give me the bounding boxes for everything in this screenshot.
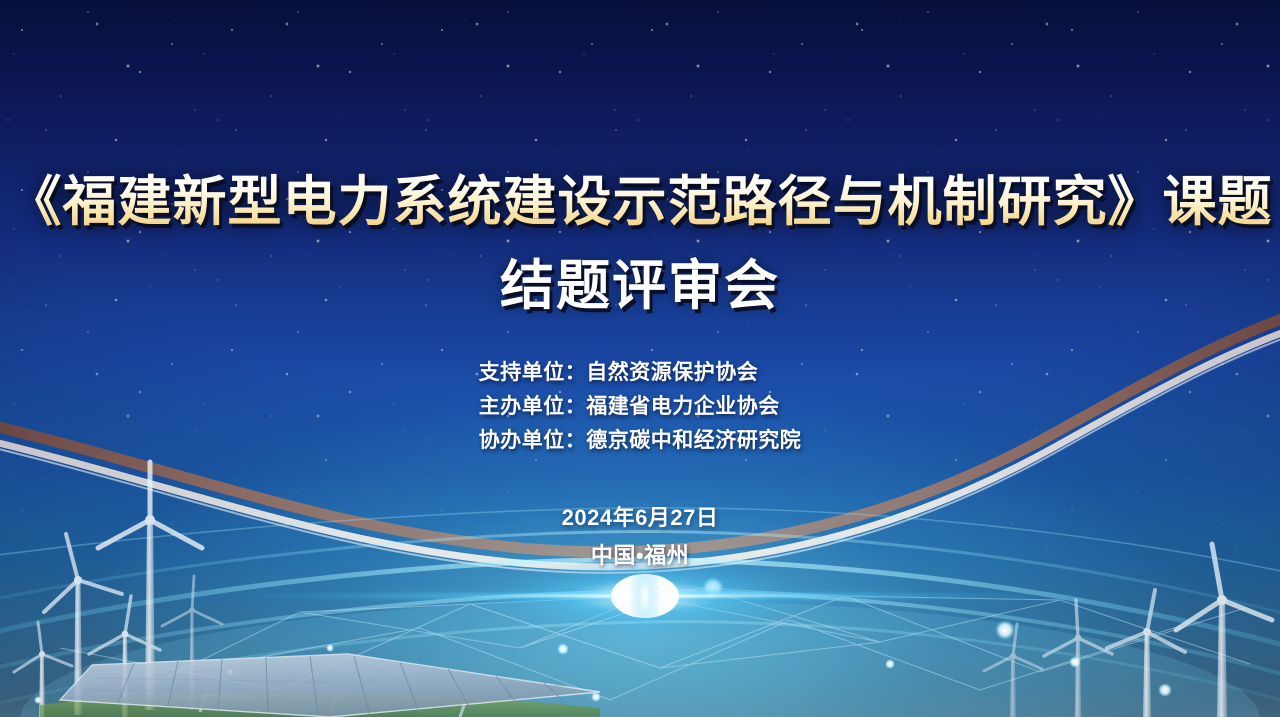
slide-content: 《福建新型电力系统建设示范路径与机制研究》课题 结题评审会 支持单位：自然资源保…: [0, 0, 1280, 572]
organization-value: 德京碳中和经济研究院: [586, 429, 801, 452]
organization-label: 协办单位：: [479, 429, 587, 452]
organization-value: 自然资源保护协会: [586, 361, 758, 384]
event-date: 2024年6月27日: [0, 502, 1280, 534]
title-slide: 《福建新型电力系统建设示范路径与机制研究》课题 结题评审会 支持单位：自然资源保…: [0, 0, 1280, 717]
organization-line: 协办单位：德京碳中和经济研究院: [479, 424, 802, 458]
event-meta-block: 2024年6月27日 中国•福州: [0, 502, 1280, 572]
event-location: 中国•福州: [0, 540, 1280, 572]
organization-line: 主办单位：福建省电力企业协会: [479, 390, 802, 424]
organization-label: 支持单位：: [479, 361, 587, 384]
organization-label: 主办单位：: [479, 395, 587, 418]
organization-value: 福建省电力企业协会: [586, 395, 780, 418]
page-title-line-1: 《福建新型电力系统建设示范路径与机制研究》课题: [0, 160, 1280, 244]
page-title-line-2: 结题评审会: [0, 254, 1280, 318]
organization-line: 支持单位：自然资源保护协会: [479, 356, 802, 390]
organizations-block: 支持单位：自然资源保护协会 主办单位：福建省电力企业协会 协办单位：德京碳中和经…: [479, 356, 802, 458]
